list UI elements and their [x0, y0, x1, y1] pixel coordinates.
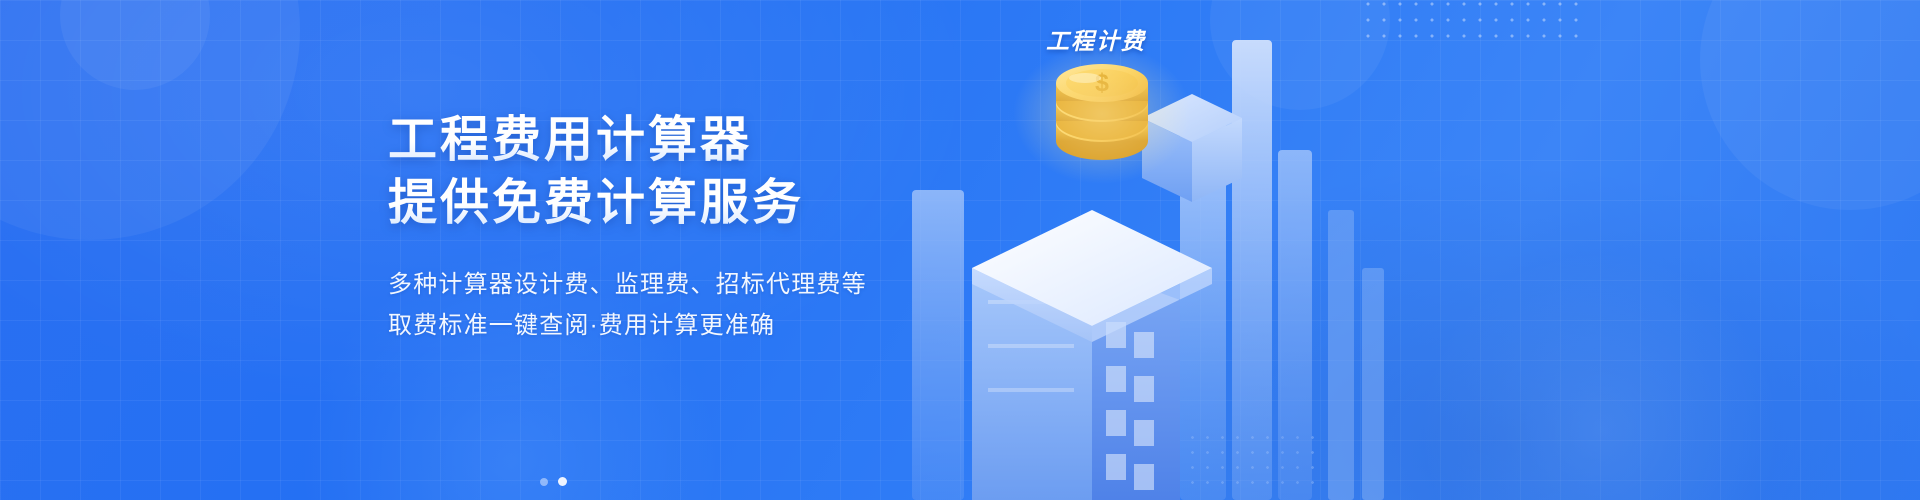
- decorative-circle-large-left: [0, 0, 300, 240]
- decorative-circle-top-right: [1700, 0, 1920, 210]
- coin-stack-icon: $: [1037, 49, 1167, 169]
- carousel-indicators[interactable]: [540, 477, 567, 486]
- carousel-dot-2[interactable]: [558, 477, 567, 486]
- promo-banner: 工程费用计算器 提供免费计算服务 多种计算器设计费、监理费、招标代理费等 取费标…: [0, 0, 1920, 500]
- banner-illustration: 工程计费: [880, 0, 1440, 500]
- carousel-dot-1[interactable]: [540, 478, 548, 486]
- coin-glow: [1007, 39, 1197, 189]
- decorative-glow-right: [1420, 250, 1780, 500]
- decorative-circle-small-left: [60, 0, 210, 90]
